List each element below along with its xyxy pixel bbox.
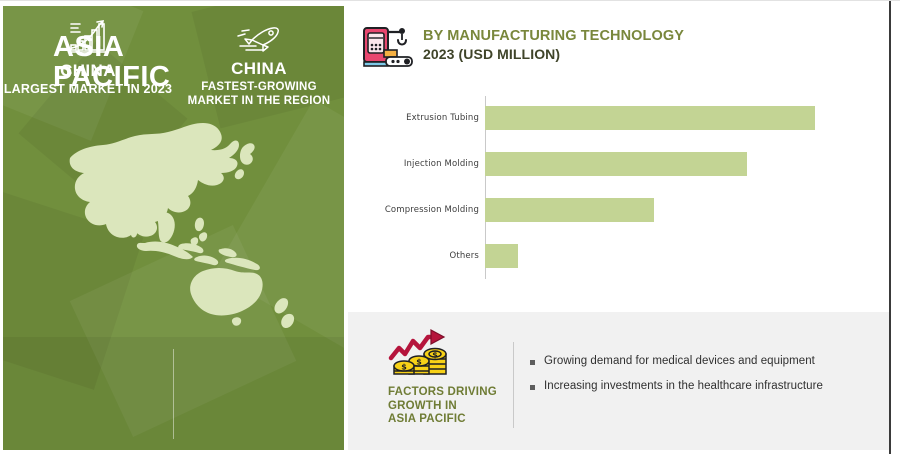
chart-header: BY MANUFACTURING TECHNOLOGY 2023 (USD MI… [362,24,684,72]
coins-growth-arrow-icon: $ $ [388,328,508,380]
rocket-speed-icon [236,16,282,56]
chart-subtitle: 2023 (USD MILLION) [423,46,684,63]
stat-headline: CHINA [60,61,116,80]
bar-value [485,152,747,176]
bullet-text: Increasing investments in the healthcare… [544,379,823,394]
bar-category-label: Injection Molding [348,159,485,169]
stat-largest-market: CHINA LARGEST MARKET IN 2023 [3,6,173,119]
stats-divider [173,349,174,439]
bar-category-label: Others [348,251,485,261]
factors-title-line1: FACTORS DRIVING [388,386,508,400]
stat-headline: CHINA [231,59,287,78]
bar-value [485,198,654,222]
svg-text:$: $ [401,362,407,371]
chart-section: BY MANUFACTURING TECHNOLOGY 2023 (USD MI… [348,6,889,450]
region-panel: ASIA PACIFIC [3,6,344,450]
manufacturing-machine-icon [362,24,414,72]
infographic-frame: ASIA PACIFIC [0,0,900,454]
manufacturing-technology-bar-chart: Extrusion Tubing Injection Molding Compr… [348,96,889,281]
factors-panel: $ $ [348,312,889,450]
factors-divider [513,342,514,428]
factors-heading-block: $ $ [388,328,508,427]
chart-bar-row: Others [348,244,889,268]
factors-title: FACTORS DRIVING GROWTH IN ASIA PACIFIC [388,386,508,427]
bar-value [485,106,815,130]
bar-category-label: Extrusion Tubing [348,113,485,123]
svg-text:$: $ [416,357,422,366]
chart-header-text: BY MANUFACTURING TECHNOLOGY 2023 (USD MI… [423,24,684,63]
bar-category-label: Compression Molding [348,205,485,215]
factors-title-line3: ASIA PACIFIC [388,413,508,427]
chart-bar-row: Extrusion Tubing [348,106,889,130]
list-item: Increasing investments in the healthcare… [530,379,870,394]
chart-title: BY MANUFACTURING TECHNOLOGY [423,28,684,45]
stat-subline-2: MARKET IN THE REGION [188,94,331,108]
factors-bullet-list: Growing demand for medical devices and e… [530,354,870,404]
stat-fastest-growing: CHINA FASTEST-GROWING MARKET IN THE REGI… [174,6,344,119]
bullet-square-icon [530,360,535,365]
chart-bar-row: Injection Molding [348,152,889,176]
chart-bar-row: Compression Molding [348,198,889,222]
stat-subline-1: FASTEST-GROWING [201,80,316,94]
svg-text:$: $ [432,351,438,360]
list-item: Growing demand for medical devices and e… [530,354,870,369]
bar-value [485,244,518,268]
growth-bar-chart-icon [66,16,110,56]
bullet-text: Growing demand for medical devices and e… [544,354,815,369]
factors-title-line2: GROWTH IN [388,400,508,414]
bullet-square-icon [530,385,535,390]
stat-subline: LARGEST MARKET IN 2023 [4,82,172,96]
asia-pacific-map-icon [31,101,321,331]
